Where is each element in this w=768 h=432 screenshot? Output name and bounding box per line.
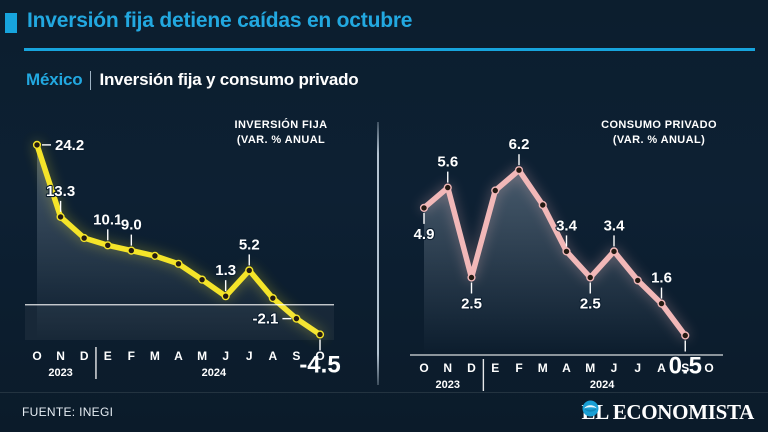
x-axis-month-label: J [246,349,253,363]
x-axis-month-label: A [657,361,666,375]
x-axis-month-label: S [292,349,300,363]
data-label: 9.0 [121,217,142,234]
x-axis-year-label: 2024 [202,367,227,379]
x-axis-month-label: E [104,349,112,363]
infographic-root: Inversión fija detiene caídas en octubre… [0,0,768,432]
data-label: 1.6 [651,270,672,287]
x-axis-year-label: 2023 [436,379,460,391]
data-label: 4.9 [414,226,435,243]
data-label: -2.1 [253,311,279,328]
header-accent-square [5,13,17,33]
x-axis-month-label: E [491,361,499,375]
x-axis-month-label: J [222,349,229,363]
data-label: 13.3 [46,183,75,200]
x-axis-month-label: D [80,349,89,363]
page-title: Inversión fija detiene caídas en octubre [27,9,412,33]
x-axis-month-label: M [538,361,548,375]
x-axis-month-label: M [150,349,160,363]
chart-panel-inversion-fija: INVERSIÓN FIJA (VAR. % ANUAL 24.213.310.… [0,110,377,390]
line-chart-inversion-fija: 24.213.310.19.01.35.2-2.1-4.5OND2023EFMA… [0,110,377,390]
data-label: 5.6 [437,154,458,171]
x-axis-month-label: O [704,361,713,375]
x-axis-month-label: J [634,361,641,375]
x-axis-month-label: M [585,361,595,375]
data-label: 3.4 [556,217,578,234]
x-axis-month-label: A [268,349,277,363]
footer-divider [0,392,768,393]
data-label: 2.5 [461,296,482,313]
subtitle-separator [90,71,91,90]
x-axis-month-label: A [562,361,571,375]
x-axis-month-label: M [197,349,207,363]
data-label: 3.4 [604,217,626,234]
data-label: 24.2 [55,137,84,154]
brand-logo: EL ECONOMISTA [582,400,755,425]
brand-name: EL ECONOMISTA [582,400,755,425]
x-axis-year-label: 2024 [590,379,615,391]
header-divider-rule [24,48,755,51]
data-label: 1.3 [215,262,236,279]
data-label: 10.1 [93,211,122,228]
source-note: FUENTE: INEGI [22,405,113,419]
data-label: 5.2 [239,236,260,253]
data-label: 2.5 [580,296,601,313]
x-axis-month-label: S [681,361,689,375]
subtitle: México Inversión fija y consumo privado [26,70,359,90]
x-axis-month-label: F [128,349,135,363]
x-axis-month-label: O [419,361,428,375]
globe-swirl-icon [582,400,599,417]
x-axis-month-label: N [443,361,452,375]
subtitle-main: Inversión fija y consumo privado [99,70,358,90]
x-axis-month-label: D [467,361,476,375]
x-axis-month-label: N [56,349,65,363]
x-axis-year-label: 2023 [48,367,72,379]
chart-panel-consumo-privado: CONSUMO PRIVADO (VAR. % ANUAL) 4.95.62.5… [379,110,768,390]
line-chart-consumo-privado: 4.95.62.56.23.42.53.41.60.5OND2023EFMAMJ… [379,110,768,390]
data-label: 6.2 [509,136,530,153]
x-axis-month-label: F [515,361,522,375]
subtitle-country: México [26,70,82,90]
x-axis-month-label: O [315,349,324,363]
x-axis-month-label: A [174,349,183,363]
x-axis-month-label: J [611,361,618,375]
x-axis-month-label: O [32,349,41,363]
